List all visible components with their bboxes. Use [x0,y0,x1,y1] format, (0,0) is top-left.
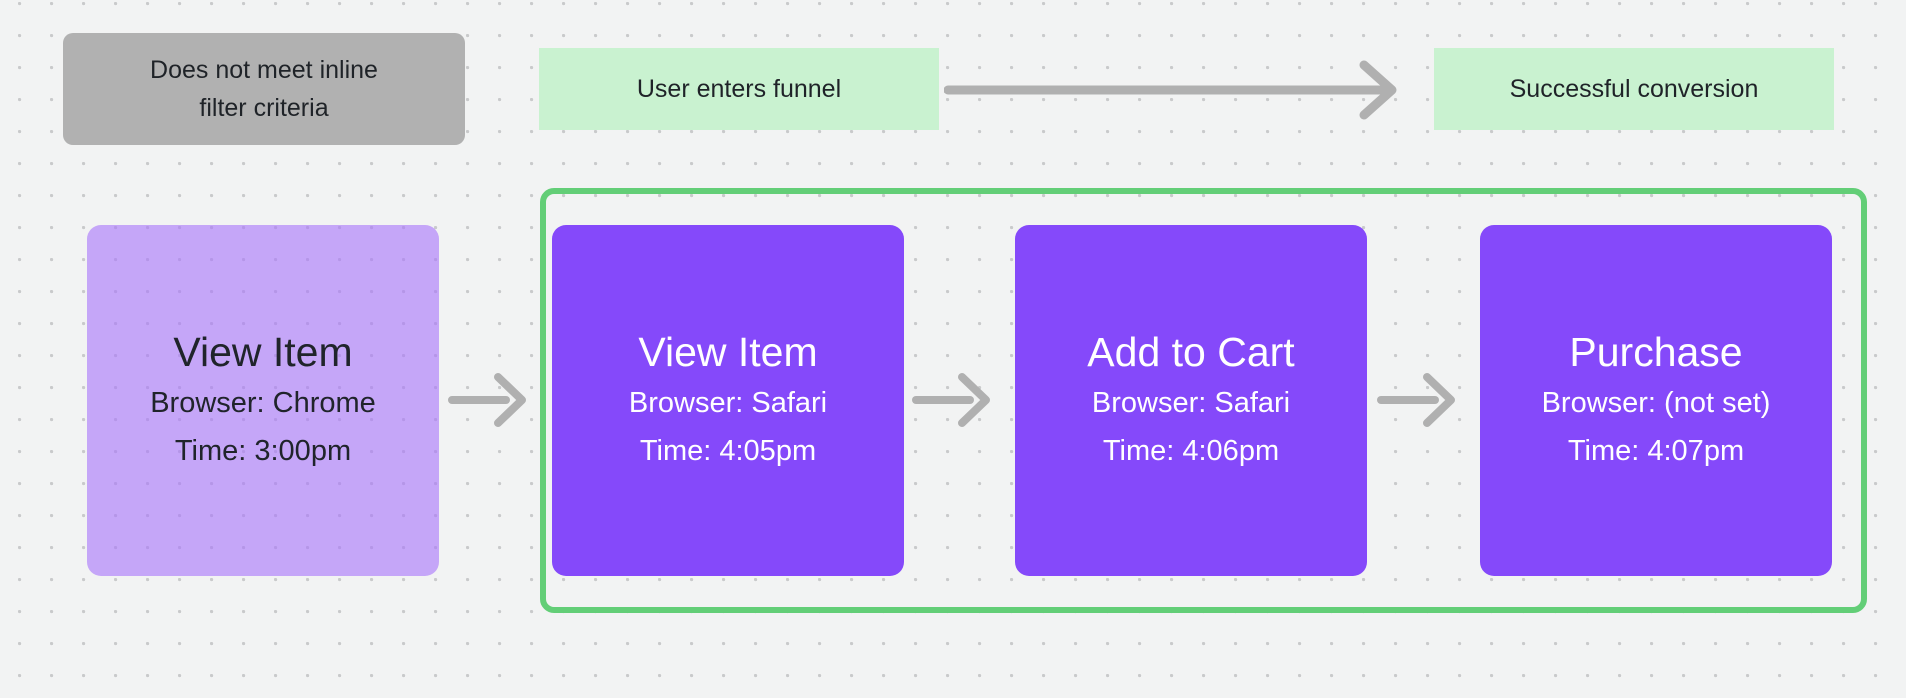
event-card-view-item-chrome[interactable]: View Item Browser: Chrome Time: 3:00pm [87,225,439,576]
legend-converted-label: Successful conversion [1510,75,1759,104]
event-card-browser: Browser: (not set) [1542,379,1771,427]
arrow-right-icon-step-1 [448,372,530,428]
legend-excluded-line1: Does not meet inline [150,56,378,84]
arrow-right-icon-step-2 [912,372,994,428]
event-card-browser: Browser: Safari [629,379,827,427]
event-card-title: Purchase [1569,327,1742,377]
event-card-title: View Item [173,327,352,377]
legend-excluded-text: Does not meet inline filter criteria [150,51,378,127]
event-card-time: Time: 4:06pm [1103,427,1279,475]
legend-excluded-line2: filter criteria [199,94,328,122]
event-card-time: Time: 3:00pm [175,427,351,475]
diagram-canvas: Does not meet inline filter criteria Use… [0,0,1906,698]
legend-chip-enters-funnel: User enters funnel [539,48,939,130]
arrow-right-icon-step-3 [1377,372,1459,428]
event-card-time: Time: 4:05pm [640,427,816,475]
event-card-browser: Browser: Chrome [150,379,376,427]
event-card-time: Time: 4:07pm [1568,427,1744,475]
event-card-purchase[interactable]: Purchase Browser: (not set) Time: 4:07pm [1480,225,1832,576]
event-card-view-item-safari[interactable]: View Item Browser: Safari Time: 4:05pm [552,225,904,576]
legend-chip-excluded: Does not meet inline filter criteria [63,33,465,145]
event-card-browser: Browser: Safari [1092,379,1290,427]
legend-chip-successful-conversion: Successful conversion [1434,48,1834,130]
legend-arrow-right-icon [944,60,1424,120]
legend-enters-funnel-label: User enters funnel [637,75,841,104]
event-card-title: Add to Cart [1087,327,1294,377]
event-card-add-to-cart[interactable]: Add to Cart Browser: Safari Time: 4:06pm [1015,225,1367,576]
event-card-title: View Item [638,327,817,377]
